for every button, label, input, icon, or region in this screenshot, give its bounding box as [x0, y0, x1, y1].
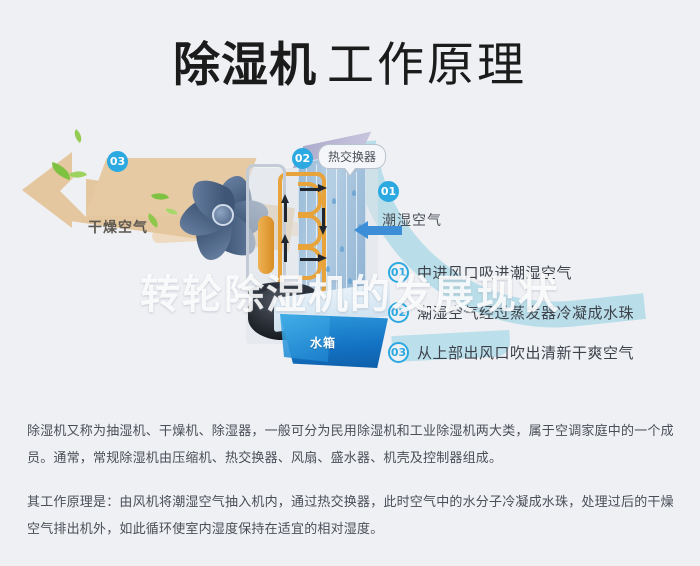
- step-badge-03: 03: [388, 342, 409, 363]
- badge-dry-air-number: 03: [107, 151, 128, 172]
- step-text-03: 从上部出风口吹出清新干爽空气: [417, 342, 634, 363]
- list-item: 01 中进风口吸进潮湿空气: [388, 252, 688, 292]
- page-title: 除湿机工作原理: [0, 26, 700, 95]
- step-badge-01: 01: [388, 262, 409, 283]
- paragraph-1: 除湿机又称为抽湿机、干燥机、除湿器，一般可分为民用除湿机和工业除湿机两大类，属于…: [27, 418, 675, 472]
- label-dry-air: 干燥空气: [88, 217, 148, 237]
- fan-hub: [212, 204, 234, 226]
- step-text-02: 潮湿空气经过蒸发器冷凝成水珠: [417, 302, 634, 323]
- label-humid-air: 潮湿空气: [382, 210, 442, 230]
- paragraph-2: 其工作原理是：由风机将潮湿空气抽入机内，通过热交换器，此时空气中的水分子冷凝成水…: [27, 489, 675, 543]
- badge-dry-air: 03: [107, 150, 128, 172]
- badge-humid-air-number: 01: [378, 181, 399, 202]
- suction-pipe: [246, 164, 286, 279]
- badge-humid-air: 01: [378, 180, 399, 202]
- label-heat-exchanger: 热交换器: [318, 144, 386, 169]
- page-title-secondary: 工作原理: [327, 38, 527, 93]
- swoosh-fade-mask: [556, 128, 616, 168]
- badge-heat-exchanger: 02: [292, 147, 313, 169]
- page-title-primary: 除湿机: [173, 38, 317, 93]
- badge-heat-exchanger-number: 02: [292, 148, 313, 169]
- step-badge-02: 02: [388, 302, 409, 323]
- list-item: 02 潮湿空气经过蒸发器冷凝成水珠: [388, 292, 688, 332]
- list-item: 03 从上部出风口吹出清新干爽空气: [388, 332, 688, 372]
- step-text-01: 中进风口吸进潮湿空气: [417, 262, 572, 283]
- water-tank-label: 水箱: [310, 334, 336, 351]
- leaf-icon: [71, 129, 85, 143]
- step-list: 01 中进风口吸进潮湿空气 02 潮湿空气经过蒸发器冷凝成水珠 03 从上部出风…: [388, 252, 688, 372]
- body-copy: 除湿机又称为抽湿机、干燥机、除湿器，一般可分为民用除湿机和工业除湿机两大类，属于…: [27, 418, 675, 543]
- infographic-page: 除湿机工作原理: [0, 0, 700, 566]
